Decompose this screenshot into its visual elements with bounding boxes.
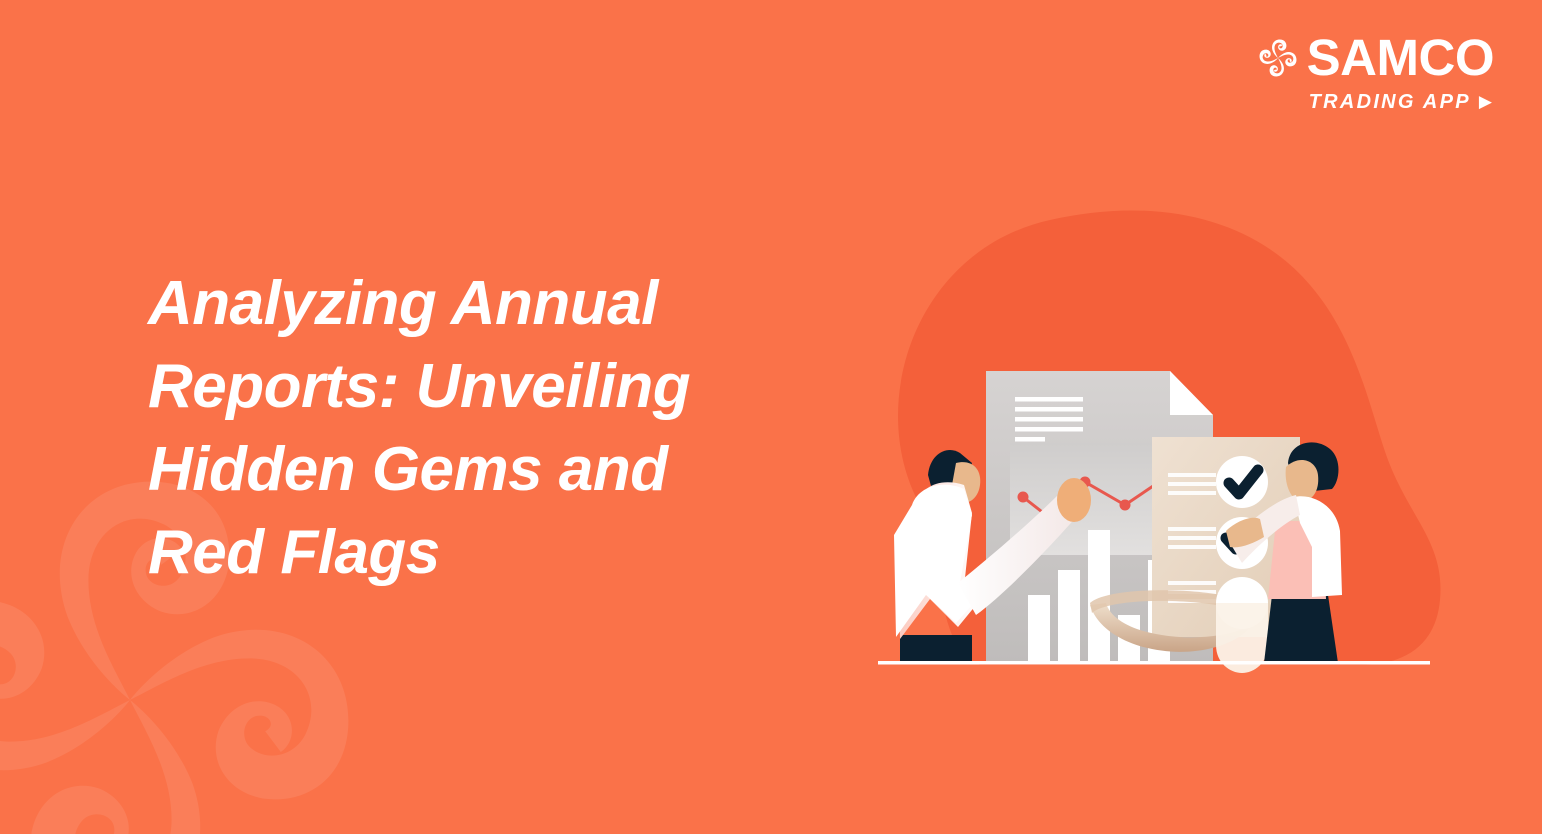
- play-arrow-icon: ▶: [1479, 93, 1492, 110]
- page-title: Analyzing Annual Reports: Unveiling Hidd…: [148, 262, 848, 594]
- ground-line: [878, 661, 1430, 665]
- left-person-hand: [1057, 478, 1091, 522]
- logo-tagline-row: TRADING APP ▶: [1309, 92, 1492, 112]
- brand-tagline: TRADING APP: [1309, 92, 1471, 112]
- logo-primary-row: SAMCO: [1256, 32, 1494, 83]
- left-person-trousers: [900, 635, 972, 663]
- hero-illustration: [860, 175, 1460, 685]
- brand-name: SAMCO: [1307, 32, 1494, 83]
- checklist-text-lines: [1168, 473, 1216, 603]
- headline-line-4: Red Flags: [148, 518, 440, 587]
- left-person-shirt: [894, 485, 974, 637]
- headline-line-2: Reports: Unveiling: [148, 352, 690, 421]
- samco-pinwheel-icon: [1256, 36, 1300, 80]
- right-person-skirt: [1264, 595, 1338, 663]
- banner-canvas: SAMCO TRADING APP ▶ Analyzing Annual Rep…: [0, 0, 1542, 834]
- headline-line-1: Analyzing Annual: [148, 269, 658, 338]
- samco-logo[interactable]: SAMCO TRADING APP ▶: [1256, 32, 1494, 112]
- headline-line-3: Hidden Gems and: [148, 435, 668, 504]
